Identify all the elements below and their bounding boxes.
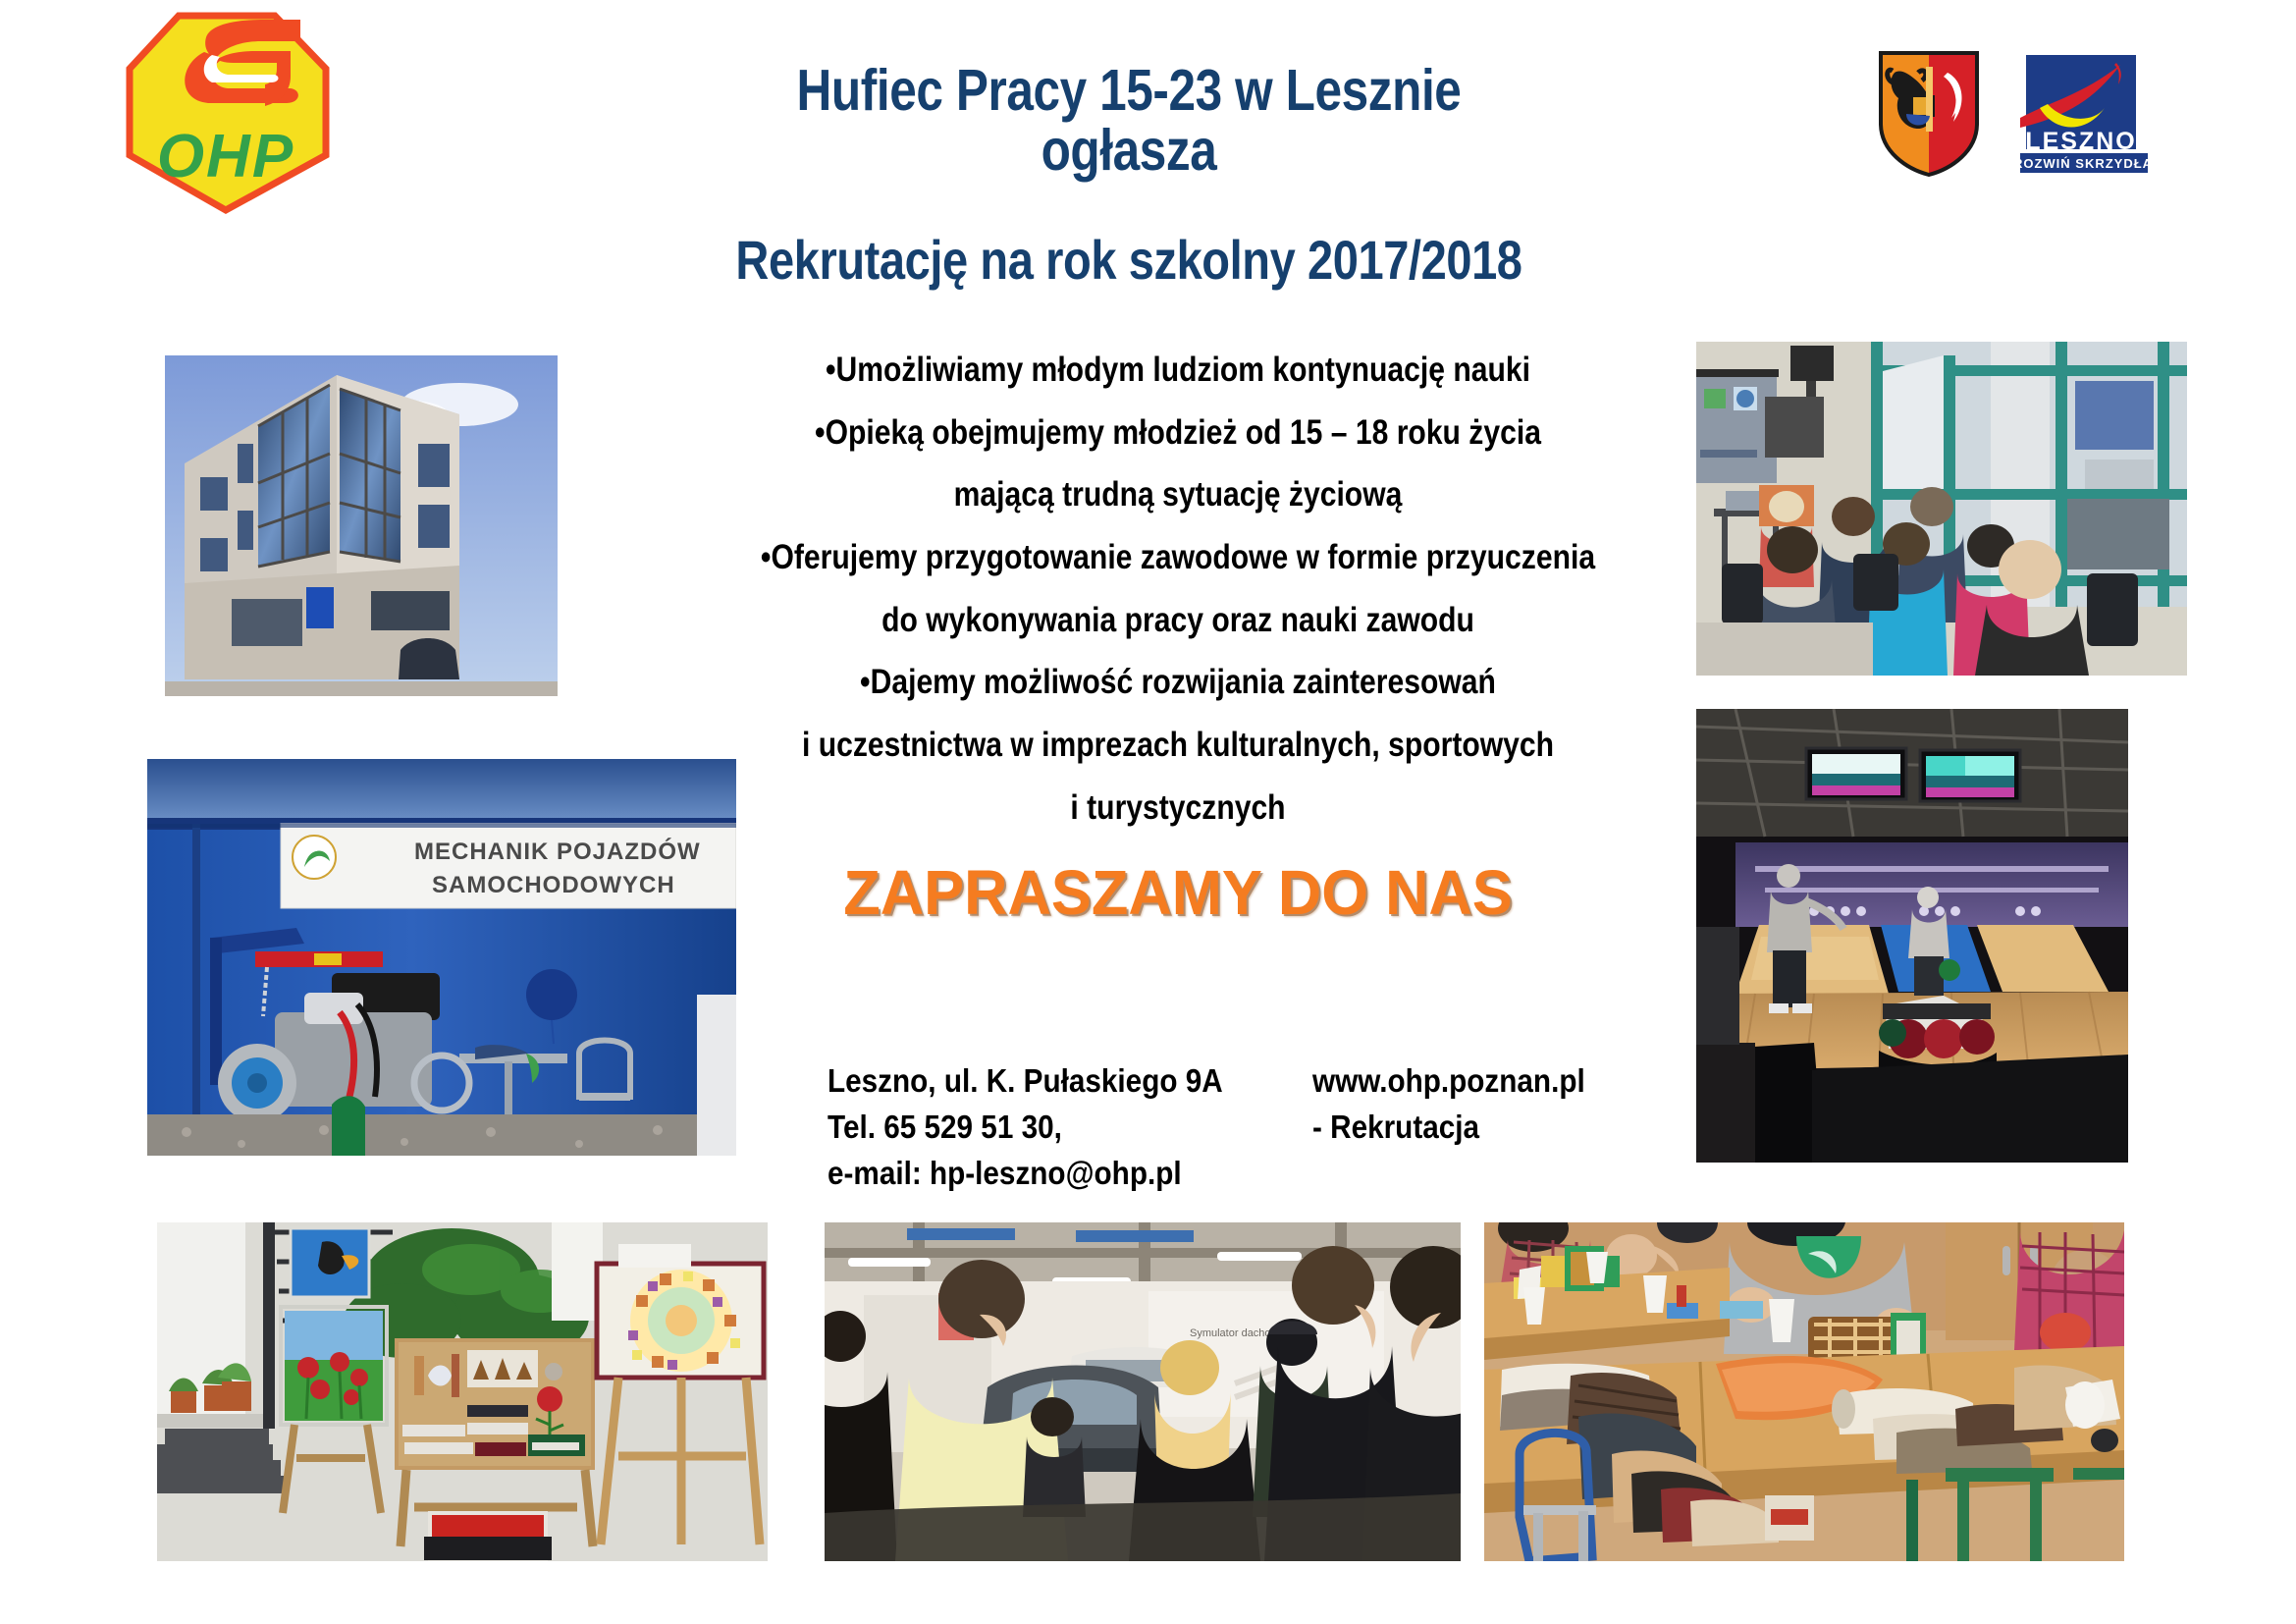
photo-automotive-fair: Symulator dachowania	[825, 1222, 1461, 1561]
leszno-brand-logo: LESZNO ROZWIŃ SKRZYDŁA	[2020, 51, 2148, 177]
contact-website-section-line: - Rekrutacja	[1312, 1105, 1585, 1151]
bullet-line: i turystycznych	[739, 777, 1617, 839]
leszno-tagline: ROZWIŃ SKRZYDŁA	[2020, 156, 2148, 171]
photo-craft-workshop	[1484, 1222, 2124, 1561]
photo-building	[165, 355, 558, 696]
page-title-line-2: ogłasza	[683, 117, 1574, 184]
bullet-line: •Oferujemy przygotowanie zawodowe w form…	[739, 526, 1617, 589]
contact-address-block: Leszno, ul. K. Pułaskiego 9A Tel. 65 529…	[828, 1058, 1223, 1197]
banner-line-1: MECHANIK POJAZDÓW	[414, 838, 701, 865]
svg-text:OHP: OHP	[157, 123, 294, 190]
ohp-logo: OHP	[118, 8, 334, 216]
photo-mechanik-stand: MECHANIK POJAZDÓW SAMOCHODOWYCH	[147, 759, 736, 1156]
contact-website-line[interactable]: www.ohp.poznan.pl	[1312, 1058, 1585, 1105]
leszno-coat-of-arms-logo	[1875, 49, 1983, 179]
contact-email-line: e-mail: hp-leszno@ohp.pl	[828, 1151, 1223, 1197]
contact-web-block: www.ohp.poznan.pl - Rekrutacja	[1312, 1058, 1585, 1151]
bullet-line: do wykonywania pracy oraz nauki zawodu	[739, 589, 1617, 652]
contact-address-line: Leszno, ul. K. Pułaskiego 9A	[828, 1058, 1223, 1105]
page-title-line-1: Hufiec Pracy 15-23 w Lesznie	[683, 57, 1574, 124]
photo-art-exhibition	[157, 1222, 768, 1561]
contact-phone-line: Tel. 65 529 51 30,	[828, 1105, 1223, 1151]
photo-classroom-presentation	[1696, 342, 2187, 676]
bullet-line: •Umożliwiamy młodym ludziom kontynuację …	[739, 339, 1617, 402]
leszno-wordmark: LESZNO	[2025, 128, 2136, 155]
offer-bullet-list: •Umożliwiamy młodym ludziom kontynuację …	[739, 339, 1617, 839]
banner-line-2: SAMOCHODOWYCH	[432, 872, 675, 898]
call-to-action-text: ZAPRASZAMY DO NAS	[791, 856, 1564, 929]
bullet-line: mającą trudną sytuację życiową	[739, 463, 1617, 526]
page-subtitle: Rekrutację na rok szkolny 2017/2018	[642, 229, 1615, 293]
bullet-line: i uczestnictwa w imprezach kulturalnych,…	[739, 714, 1617, 777]
bullet-line: •Opieką obejmujemy młodzież od 15 – 18 r…	[739, 402, 1617, 464]
bullet-line: •Dajemy możliwość rozwijania zainteresow…	[739, 651, 1617, 714]
photo-bowling-alley	[1696, 709, 2146, 1163]
